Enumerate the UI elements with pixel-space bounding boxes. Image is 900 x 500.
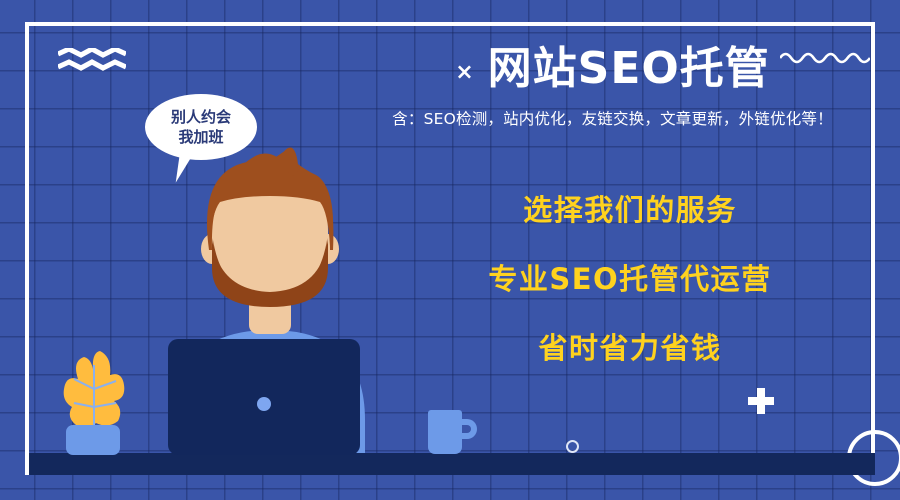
- desk-surface: [29, 453, 589, 475]
- speech-bubble: 别人约会 我加班: [145, 94, 257, 160]
- plant-pot: [66, 425, 120, 455]
- speech-bubble-line-2: 我加班: [178, 127, 223, 147]
- speech-bubble-line-1: 别人约会: [171, 107, 231, 127]
- character-mouth: [244, 268, 296, 288]
- plant-leaf-icon: [60, 345, 128, 435]
- laptop-logo-icon: [257, 397, 271, 411]
- desk-surface-right: [589, 453, 875, 475]
- seo-banner: × 网站SEO托管 含：SEO检测，站内优化，友链交换，文章更新，外链优化等！ …: [0, 0, 900, 500]
- laptop: [168, 339, 360, 455]
- coffee-mug: [428, 410, 462, 454]
